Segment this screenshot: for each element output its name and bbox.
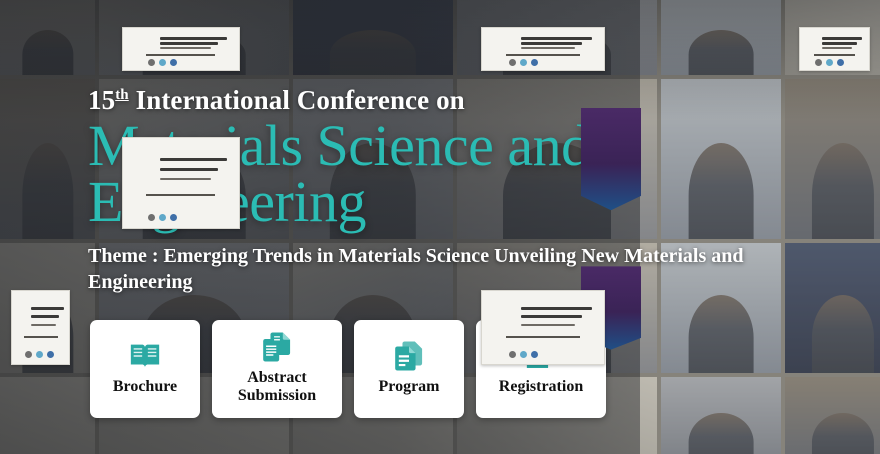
card-label: Program xyxy=(378,378,439,396)
card-label: Brochure xyxy=(113,378,177,396)
collage-photo xyxy=(661,377,781,454)
conference-edition-line: 15th International Conference on xyxy=(88,86,648,116)
conference-poster xyxy=(122,27,240,71)
collage-photo xyxy=(457,0,657,75)
collage-photo xyxy=(785,0,880,75)
documents-icon xyxy=(260,331,294,363)
collage-photo xyxy=(0,79,95,239)
conference-poster xyxy=(11,290,70,365)
card-brochure[interactable]: Brochure xyxy=(90,320,200,418)
collage-photo xyxy=(0,377,95,454)
card-label: Registration xyxy=(499,378,583,396)
card-program[interactable]: Program xyxy=(354,320,464,418)
collage-photo xyxy=(661,0,781,75)
collage-photo xyxy=(661,79,781,239)
collage-photo xyxy=(99,0,289,75)
edition-rest: International Conference on xyxy=(136,85,465,115)
conference-poster xyxy=(799,27,870,71)
conference-hero-banner: 15th International Conference on Materia… xyxy=(0,0,880,454)
conference-poster xyxy=(122,137,240,230)
collage-photo xyxy=(785,377,880,454)
collage-photo xyxy=(0,0,95,75)
edition-number: 15 xyxy=(88,85,115,115)
conference-banner xyxy=(581,108,641,210)
edition-suffix: th xyxy=(115,87,129,103)
collage-photo xyxy=(785,79,880,239)
conference-poster xyxy=(481,290,605,365)
card-abstract-submission[interactable]: Abstract Submission xyxy=(212,320,342,418)
conference-poster xyxy=(481,27,605,71)
open-book-icon xyxy=(128,340,162,372)
file-copy-icon xyxy=(392,340,426,372)
collage-photo xyxy=(293,0,453,75)
collage-photo xyxy=(0,243,95,373)
conference-theme: Theme : Emerging Trends in Materials Sci… xyxy=(88,244,823,295)
card-label: Abstract Submission xyxy=(218,369,336,405)
